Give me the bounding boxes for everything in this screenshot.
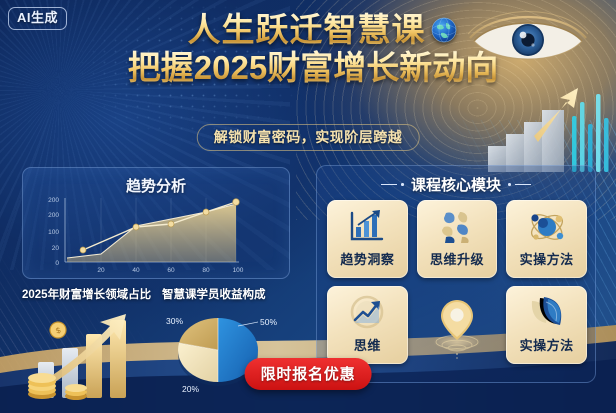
module-card-label: 实操方法 <box>520 249 574 268</box>
pie-label-50: 50% <box>260 317 277 327</box>
location-pin-wrapper <box>417 293 498 364</box>
core-modules-heading-text: 课程核心模块 <box>411 174 501 195</box>
limited-time-offer-cta[interactable]: 限时报名优惠 <box>245 358 372 390</box>
title-block: 人生跃迁智慧课 把握2025财富增长新动向 <box>0 12 616 87</box>
module-card-practical-method-1[interactable]: 实操方法 <box>506 200 587 278</box>
subtitle-pill: 解锁财富密码，实现阶层跨越 <box>197 124 420 151</box>
module-card-location[interactable] <box>417 286 498 364</box>
heading-dash-right <box>508 183 531 186</box>
x-tick-20: 20 <box>97 267 105 274</box>
module-card-label: 思维 <box>354 335 381 354</box>
growth-arrow-circle-icon <box>346 293 388 333</box>
wealth-growth-bar-scene: $ <box>14 296 164 406</box>
module-card-label: 趋势洞察 <box>340 249 394 268</box>
heading-dash-left <box>381 183 404 186</box>
leaf-check-icon <box>526 293 568 333</box>
ascending-stairs-arrow-icon <box>486 72 616 172</box>
core-modules-panel: 课程核心模块 趋势洞察 <box>316 165 596 383</box>
bar-chart-arrow-icon <box>346 207 388 247</box>
y-tick-200a: 200 <box>48 197 59 204</box>
module-card-trend-insight[interactable]: 趋势洞察 <box>327 200 408 278</box>
x-tick-60: 60 <box>167 267 175 274</box>
main-title-line-1-text: 人生跃迁智慧课 <box>188 12 426 49</box>
poster-canvas: AI生成 <box>0 0 616 413</box>
pie-label-20: 20% <box>182 384 199 394</box>
y-tick-20: 20 <box>52 245 60 252</box>
module-card-mindset-upgrade[interactable]: 思维升级 <box>417 200 498 278</box>
x-tick-100: 100 <box>233 267 244 274</box>
main-title-line-2: 把握2025财富增长新动向 <box>0 50 616 87</box>
globe-icon <box>431 17 457 43</box>
x-tick-80: 80 <box>202 267 210 274</box>
ai-generated-badge: AI生成 <box>8 7 67 30</box>
module-card-label: 思维升级 <box>430 249 484 268</box>
atom-network-icon <box>526 207 568 247</box>
module-card-label: 实操方法 <box>520 335 574 354</box>
trend-analysis-title: 趋势分析 <box>23 175 289 196</box>
location-pin-icon <box>431 296 483 362</box>
trend-analysis-panel: 趋势分析 200 200 100 20 0 <box>22 167 290 279</box>
abstract-shapes-icon <box>436 207 478 247</box>
modules-grid: 趋势洞察 思维升级 <box>327 200 587 364</box>
bar-chart-caption: 2025年财富增长领域占比 <box>22 288 152 302</box>
module-card-practical-method-2[interactable]: 实操方法 <box>506 286 587 364</box>
module-card-mindset[interactable]: 思维 <box>327 286 408 364</box>
core-modules-heading: 课程核心模块 <box>317 174 595 195</box>
pie-chart-caption: 智慧课学员收益构成 <box>162 288 312 302</box>
y-tick-0: 0 <box>55 260 59 267</box>
pie-label-30: 30% <box>166 316 183 326</box>
y-tick-200b: 200 <box>48 212 59 219</box>
main-title-line-1: 人生跃迁智慧课 <box>160 12 457 49</box>
x-tick-40: 40 <box>132 267 140 274</box>
y-tick-100: 100 <box>48 229 59 236</box>
trend-line-chart: 200 200 100 20 0 <box>29 194 285 276</box>
